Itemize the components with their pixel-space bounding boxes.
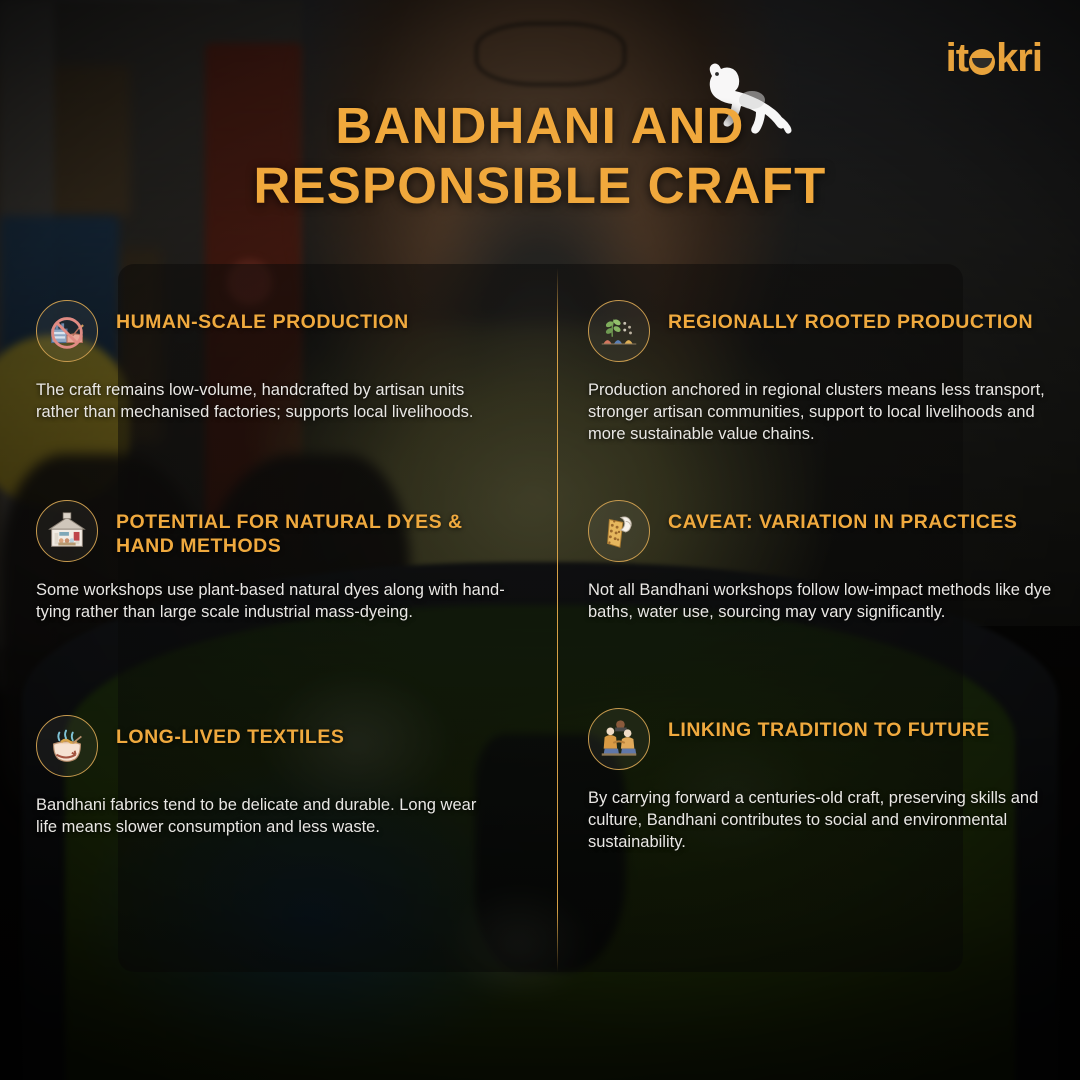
card-natural-dyes-hand-methods[interactable]: POTENTIAL FOR NATURAL DYES & HAND METHOD… [36, 500, 518, 624]
card-title: LONG-LIVED TEXTILES [116, 715, 344, 750]
card-body: The craft remains low-volume, handcrafte… [36, 380, 500, 424]
card-body: Some workshops use plant-based natural d… [36, 580, 518, 624]
card-header: HUMAN-SCALE PRODUCTION [36, 300, 500, 362]
card-header: LONG-LIVED TEXTILES [36, 715, 500, 777]
card-header: REGIONALLY ROOTED PRODUCTION [588, 300, 1060, 362]
page-title: BANDHANI AND RESPONSIBLE CRAFT [0, 96, 1080, 216]
card-header: CAVEAT: VARIATION IN PRACTICES [588, 500, 1060, 562]
card-body: Production anchored in regional clusters… [588, 380, 1060, 445]
card-title: POTENTIAL FOR NATURAL DYES & HAND METHOD… [116, 500, 518, 559]
card-title: CAVEAT: VARIATION IN PRACTICES [668, 500, 1017, 535]
card-body: Bandhani fabrics tend to be delicate and… [36, 795, 500, 839]
brand-logo-text: itkri [946, 36, 1042, 80]
card-title: REGIONALLY ROOTED PRODUCTION [668, 300, 1033, 335]
plants-and-dye-powders-icon [588, 300, 650, 362]
card-caveat-variation-in-practices[interactable]: CAVEAT: VARIATION IN PRACTICES Not all B… [588, 500, 1060, 624]
card-body: Not all Bandhani workshops follow low-im… [588, 580, 1060, 624]
card-header: LINKING TRADITION TO FUTURE [588, 708, 1060, 770]
header: itkri BANDHANI AND RESPONSIBLE CRAFT [0, 0, 1080, 250]
steaming-dye-pot-icon [36, 715, 98, 777]
right-column: REGIONALLY ROOTED PRODUCTION Production … [540, 300, 1080, 972]
two-artisans-working-icon [588, 708, 650, 770]
page-title-line-1: BANDHANI AND [335, 97, 744, 154]
card-header: POTENTIAL FOR NATURAL DYES & HAND METHOD… [36, 500, 518, 562]
card-long-lived-textiles[interactable]: LONG-LIVED TEXTILES Bandhani fabrics ten… [36, 715, 500, 839]
page-title-line-2: RESPONSIBLE CRAFT [0, 156, 1080, 216]
card-regionally-rooted-production[interactable]: REGIONALLY ROOTED PRODUCTION Production … [588, 300, 1060, 445]
card-human-scale-production[interactable]: HUMAN-SCALE PRODUCTION The craft remains… [36, 300, 500, 424]
card-title: HUMAN-SCALE PRODUCTION [116, 300, 409, 335]
hand-holding-patterned-fabric-icon [588, 500, 650, 562]
artisan-workshop-building-icon [36, 500, 98, 562]
no-factory-icon [36, 300, 98, 362]
card-title: LINKING TRADITION TO FUTURE [668, 708, 990, 743]
card-linking-tradition-to-future[interactable]: LINKING TRADITION TO FUTURE By carrying … [588, 708, 1060, 853]
brand-logo[interactable]: itkri [946, 38, 1042, 78]
left-column: HUMAN-SCALE PRODUCTION The craft remains… [0, 300, 540, 972]
card-body: By carrying forward a centuries-old craf… [588, 788, 1060, 853]
